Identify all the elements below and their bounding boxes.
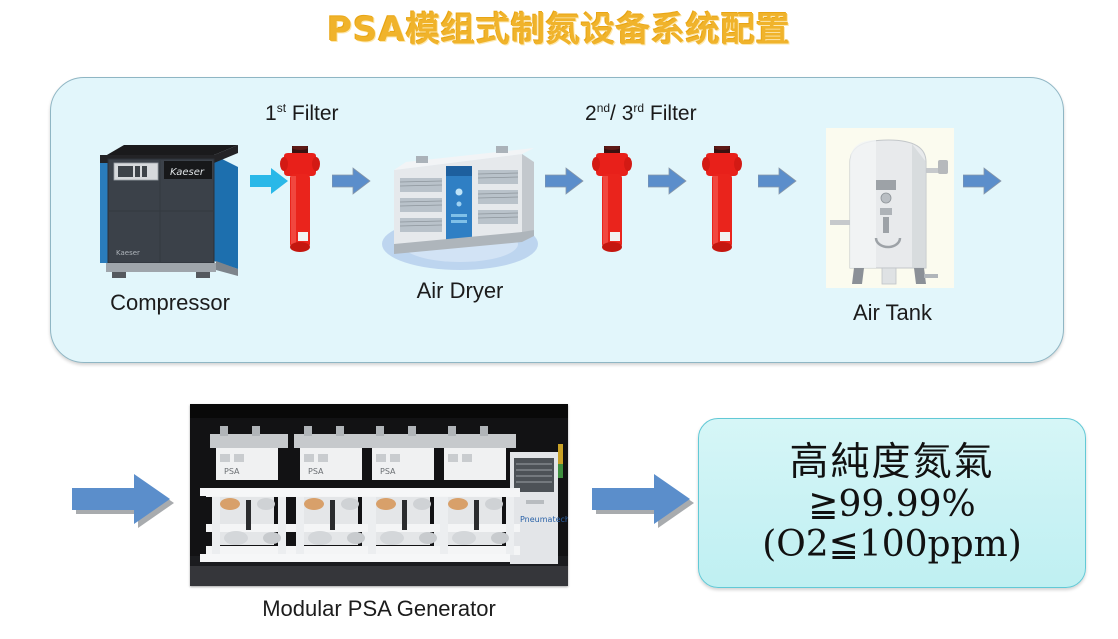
svg-text:PSA: PSA — [380, 467, 396, 476]
output-line-oxygen-value: (O2≦100ppm) — [762, 525, 1022, 565]
filter-3-image — [700, 146, 744, 264]
arrow-tank-out — [963, 166, 1003, 201]
equip-label-air-tank: Air Tank — [810, 300, 975, 326]
filter-1-image — [278, 146, 322, 264]
arrow-dryer-to-filter2 — [545, 166, 585, 201]
stage-label-second-third-filter: 2nd/ 3rd Filter — [585, 101, 697, 126]
page-title: PSA模组式制氮设备系统配置 — [0, 2, 1118, 51]
modular-psa-generator-image: Pneumatech PSA — [190, 404, 568, 586]
svg-text:PSA: PSA — [224, 467, 240, 476]
equip-label-air-dryer: Air Dryer — [370, 278, 550, 304]
arrow-filter2-to-filter3 — [648, 166, 688, 201]
svg-text:Kaeser: Kaeser — [116, 249, 140, 257]
filter-2-image — [590, 146, 634, 264]
svg-text:PSA: PSA — [308, 467, 324, 476]
output-spec-box: 高純度氮氣 ≧99.99% (O2≦100ppm) — [698, 418, 1086, 588]
arrow-filter3-to-tank — [758, 166, 798, 201]
svg-text:Pneumatech: Pneumatech — [520, 515, 568, 524]
air-dryer-image — [372, 140, 548, 275]
stage-label-first-filter: 1st Filter — [265, 101, 339, 126]
arrow-generator-to-output — [586, 470, 702, 537]
arrow-into-generator — [66, 470, 182, 537]
svg-text:Kaeser: Kaeser — [170, 167, 205, 178]
compressor-image: Kaeser Kaeser — [88, 133, 248, 288]
generator-label: Modular PSA Generator — [190, 596, 568, 622]
output-line-purity-value: ≧99.99% — [808, 485, 975, 525]
output-line-purity-title: 高純度氮氣 — [789, 441, 994, 485]
arrow-filter1-to-dryer — [332, 166, 372, 201]
equip-label-compressor: Compressor — [85, 290, 255, 316]
air-tank-image — [826, 128, 954, 288]
